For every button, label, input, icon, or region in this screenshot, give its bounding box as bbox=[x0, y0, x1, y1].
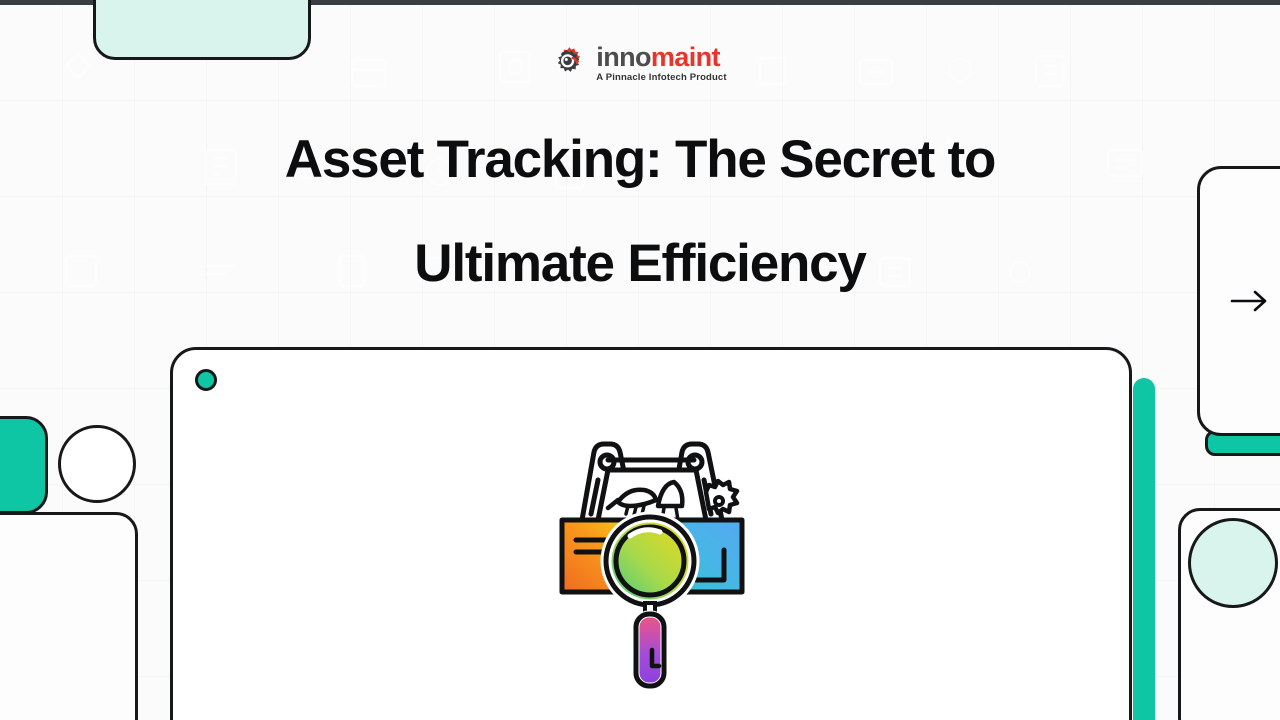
page-title-line-1: Asset Tracking: The Secret to bbox=[0, 108, 1280, 212]
slide-canvas: innomaint A Pinnacle Infotech Product As… bbox=[0, 0, 1280, 720]
circle-bottom-right-mint bbox=[1188, 518, 1278, 608]
logo-word-maint: maint bbox=[651, 42, 720, 72]
page-title-line-2: Ultimate Efficiency bbox=[0, 212, 1280, 316]
rounded-rect-left-teal bbox=[0, 416, 48, 514]
logo-text-block: innomaint A Pinnacle Infotech Product bbox=[596, 44, 726, 83]
logo-word-inno: inno bbox=[596, 42, 651, 72]
page-title: Asset Tracking: The Secret to Ultimate E… bbox=[0, 108, 1280, 316]
status-dot bbox=[195, 369, 217, 391]
main-content-card bbox=[170, 347, 1132, 720]
innomaint-gear-logo-icon bbox=[553, 46, 587, 80]
card-left-white bbox=[0, 512, 138, 720]
asset-tracking-toolbox-illustration bbox=[546, 428, 756, 698]
logo-tagline: A Pinnacle Infotech Product bbox=[596, 73, 726, 83]
teal-vertical-bar bbox=[1133, 378, 1155, 720]
logo-wordmark: innomaint bbox=[596, 44, 726, 71]
illustration-container bbox=[173, 428, 1129, 698]
circle-left-white bbox=[58, 425, 136, 503]
brand-logo: innomaint A Pinnacle Infotech Product bbox=[0, 44, 1280, 83]
